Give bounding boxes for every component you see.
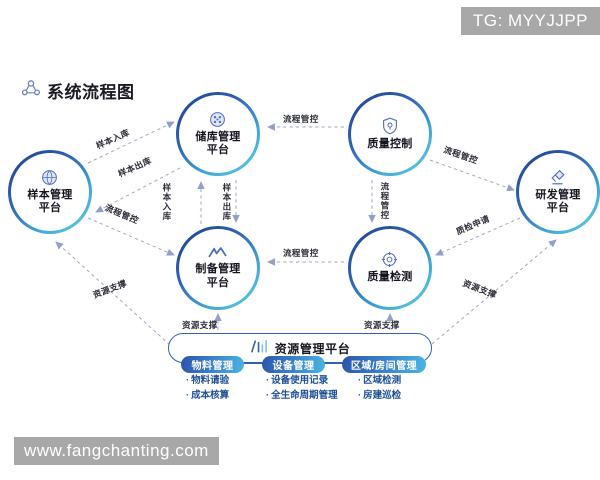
storage-sphere-icon (209, 111, 226, 128)
edge-label-flow-qc-qt: 流程管控 (380, 182, 389, 220)
list-item: 区域检测 (358, 374, 401, 389)
edge-label-sample-out-2: 样本出库 (222, 183, 231, 221)
edge-label-flow-qt-prep: 流程管控 (283, 247, 319, 259)
list-item: 房建巡检 (358, 389, 401, 404)
edge-layer (0, 0, 600, 480)
node-label: 质量检测 (367, 271, 412, 284)
node-storage-management-platform[interactable]: 储库管理 平台 (176, 92, 260, 176)
list-item: 成本核算 (186, 389, 229, 404)
microscope-icon (549, 169, 567, 186)
edge-label-flow-qc-storage: 流程管控 (283, 113, 319, 125)
diagram-canvas: TG: MYYJJPP www.fangchanting.com 系统流程图 (0, 0, 600, 480)
chart-bars-icon (250, 338, 269, 359)
activity-line-icon (208, 246, 227, 260)
node-rd-management-platform[interactable]: 研发管理 平台 (516, 150, 600, 234)
node-label: 研发管理 平台 (535, 189, 580, 216)
pill-equipment-management[interactable]: 设备管理 (262, 356, 325, 373)
edge-label-resource-qt: 资源支撑 (364, 319, 400, 331)
resource-panel-title: 资源管理平台 (275, 340, 351, 357)
node-label: 样本管理 平台 (27, 189, 72, 216)
pill-material-management[interactable]: 物料管理 (181, 356, 244, 373)
bullet-group-equipment: 设备使用记录 全生命周期管理 (266, 374, 338, 403)
node-quality-testing[interactable]: 质量检测 (348, 226, 432, 310)
sample-sphere-icon (41, 169, 58, 186)
list-item: 设备使用记录 (266, 374, 338, 389)
list-item: 物料请验 (186, 374, 229, 389)
target-crosshair-icon (381, 251, 398, 268)
edge-label-resource-prep: 资源支撑 (182, 319, 218, 331)
list-item: 全生命周期管理 (266, 389, 338, 404)
bullet-group-area: 区域检测 房建巡检 (358, 374, 401, 403)
node-label: 储库管理 平台 (195, 131, 240, 158)
bullet-group-material: 物料请验 成本核算 (186, 374, 229, 403)
shield-icon (382, 117, 398, 135)
pill-area-room-management[interactable]: 区域/房间管理 (342, 356, 426, 373)
node-label: 制备管理 平台 (195, 263, 240, 290)
node-label: 质量控制 (367, 138, 412, 151)
edge-label-sample-in-2: 样本入库 (162, 183, 171, 221)
node-quality-control[interactable]: 质量控制 (348, 92, 432, 176)
node-sample-management-platform[interactable]: 样本管理 平台 (8, 150, 92, 234)
node-preparation-management-platform[interactable]: 制备管理 平台 (176, 226, 260, 310)
